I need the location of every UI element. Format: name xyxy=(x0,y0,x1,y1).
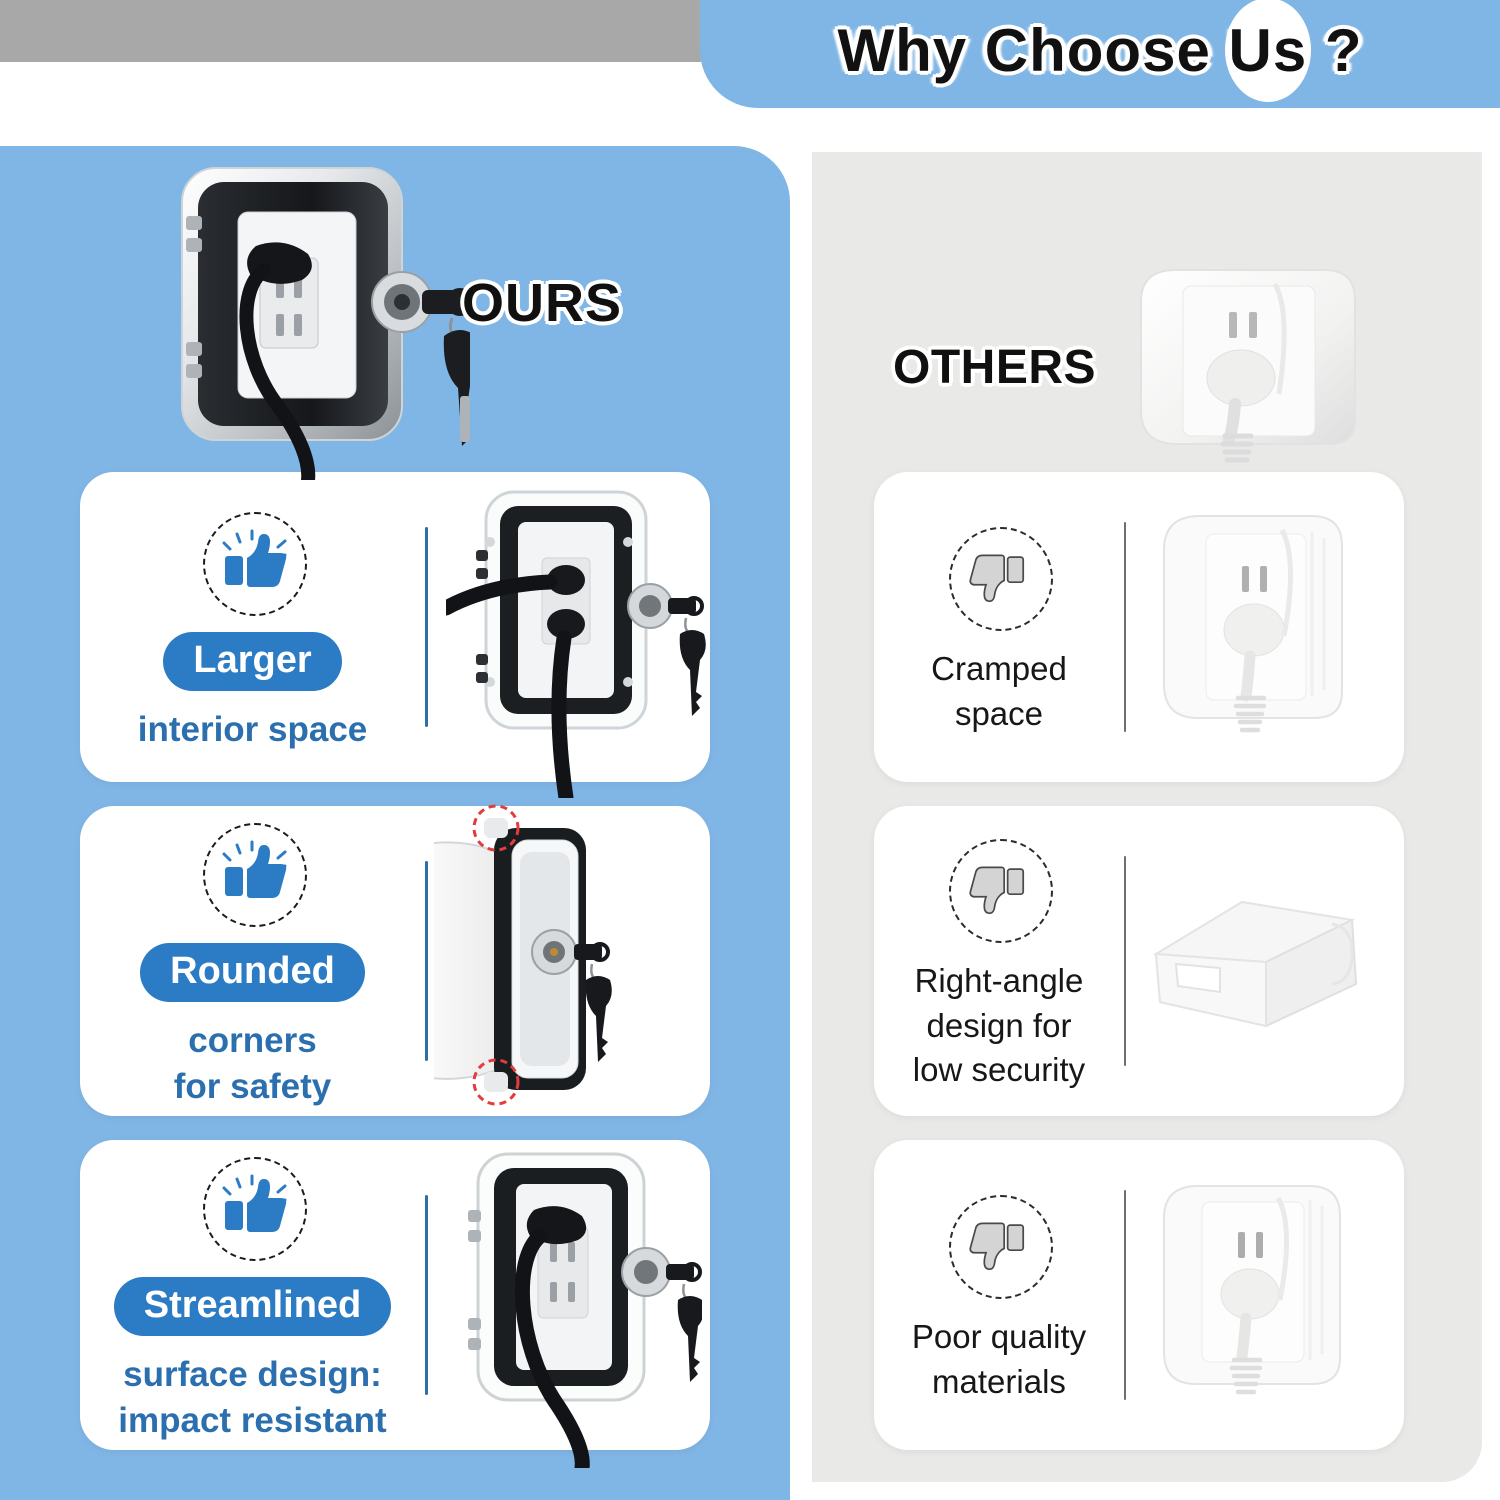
thumb-glyph xyxy=(199,819,307,927)
ours-label: OURS xyxy=(462,272,622,334)
feature-description-line: corners xyxy=(174,1018,332,1064)
thumbs-up-icon xyxy=(199,508,307,616)
page-title-part-3: ? xyxy=(1307,16,1362,85)
others-label: OTHERS xyxy=(893,340,1096,395)
ours-card-image-larger xyxy=(428,472,710,782)
card-info: Larger interior space xyxy=(80,472,425,782)
card-info: Poor quality materials xyxy=(874,1140,1124,1450)
card-info: Rounded corners for safety xyxy=(80,806,425,1116)
drawback-description-line: materials xyxy=(912,1360,1086,1405)
feature-description-line: for safety xyxy=(174,1064,332,1110)
page-title: Why Choose Us ? xyxy=(700,0,1500,100)
thumbs-down-icon xyxy=(945,523,1053,631)
thumbs-up-icon xyxy=(199,1153,307,1261)
thumbs-up-icon xyxy=(199,819,307,927)
hero-others-image xyxy=(1125,250,1395,490)
hero-ours-image xyxy=(160,150,470,480)
feature-description-line: impact resistant xyxy=(118,1398,386,1444)
drawback-description-line: design for xyxy=(913,1004,1085,1049)
feature-badge: Rounded xyxy=(140,943,365,1002)
others-card-image-cramped xyxy=(1126,472,1404,782)
feature-description: interior space xyxy=(138,707,368,753)
feature-badge: Larger xyxy=(163,632,341,691)
thumb-glyph xyxy=(199,508,307,616)
drawback-description-line: low security xyxy=(913,1048,1085,1093)
feature-description: surface design: impact resistant xyxy=(118,1352,386,1443)
card-info: Right-angle design for low security xyxy=(874,806,1124,1116)
ours-card-image-rounded xyxy=(428,806,710,1116)
drawback-description-line: space xyxy=(931,692,1067,737)
top-gray-tab xyxy=(0,0,700,62)
thumb-glyph xyxy=(945,1191,1053,1299)
drawback-description: Poor quality materials xyxy=(912,1315,1086,1404)
others-card-right-angle[interactable]: Right-angle design for low security xyxy=(874,806,1404,1116)
others-card-cramped[interactable]: Cramped space xyxy=(874,472,1404,782)
thumb-glyph xyxy=(945,835,1053,943)
ours-card-rounded[interactable]: Rounded corners for safety xyxy=(80,806,710,1116)
others-card-image-poor-quality xyxy=(1126,1140,1404,1450)
page-title-part-1: Why Choose xyxy=(837,16,1228,85)
ours-card-larger[interactable]: Larger interior space xyxy=(80,472,710,782)
drawback-description-line: Cramped xyxy=(931,647,1067,692)
ours-card-image-streamlined xyxy=(428,1140,710,1450)
feature-badge: Streamlined xyxy=(114,1277,392,1336)
others-card-image-right-angle xyxy=(1126,806,1404,1116)
drawback-description: Cramped space xyxy=(931,647,1067,736)
thumb-glyph xyxy=(199,1153,307,1261)
thumb-glyph xyxy=(945,523,1053,631)
ours-card-streamlined[interactable]: Streamlined surface design: impact resis… xyxy=(80,1140,710,1450)
drawback-description-line: Poor quality xyxy=(912,1315,1086,1360)
card-info: Streamlined surface design: impact resis… xyxy=(80,1140,425,1450)
drawback-description: Right-angle design for low security xyxy=(913,959,1085,1093)
feature-description-line: surface design: xyxy=(118,1352,386,1398)
thumbs-down-icon xyxy=(945,835,1053,943)
feature-description: corners for safety xyxy=(174,1018,332,1109)
page-title-us-highlight: Us xyxy=(1228,16,1307,85)
infographic-canvas: Why Choose Us ? xyxy=(0,0,1500,1500)
drawback-description-line: Right-angle xyxy=(913,959,1085,1004)
others-card-poor-quality[interactable]: Poor quality materials xyxy=(874,1140,1404,1450)
card-info: Cramped space xyxy=(874,472,1124,782)
thumbs-down-icon xyxy=(945,1191,1053,1299)
